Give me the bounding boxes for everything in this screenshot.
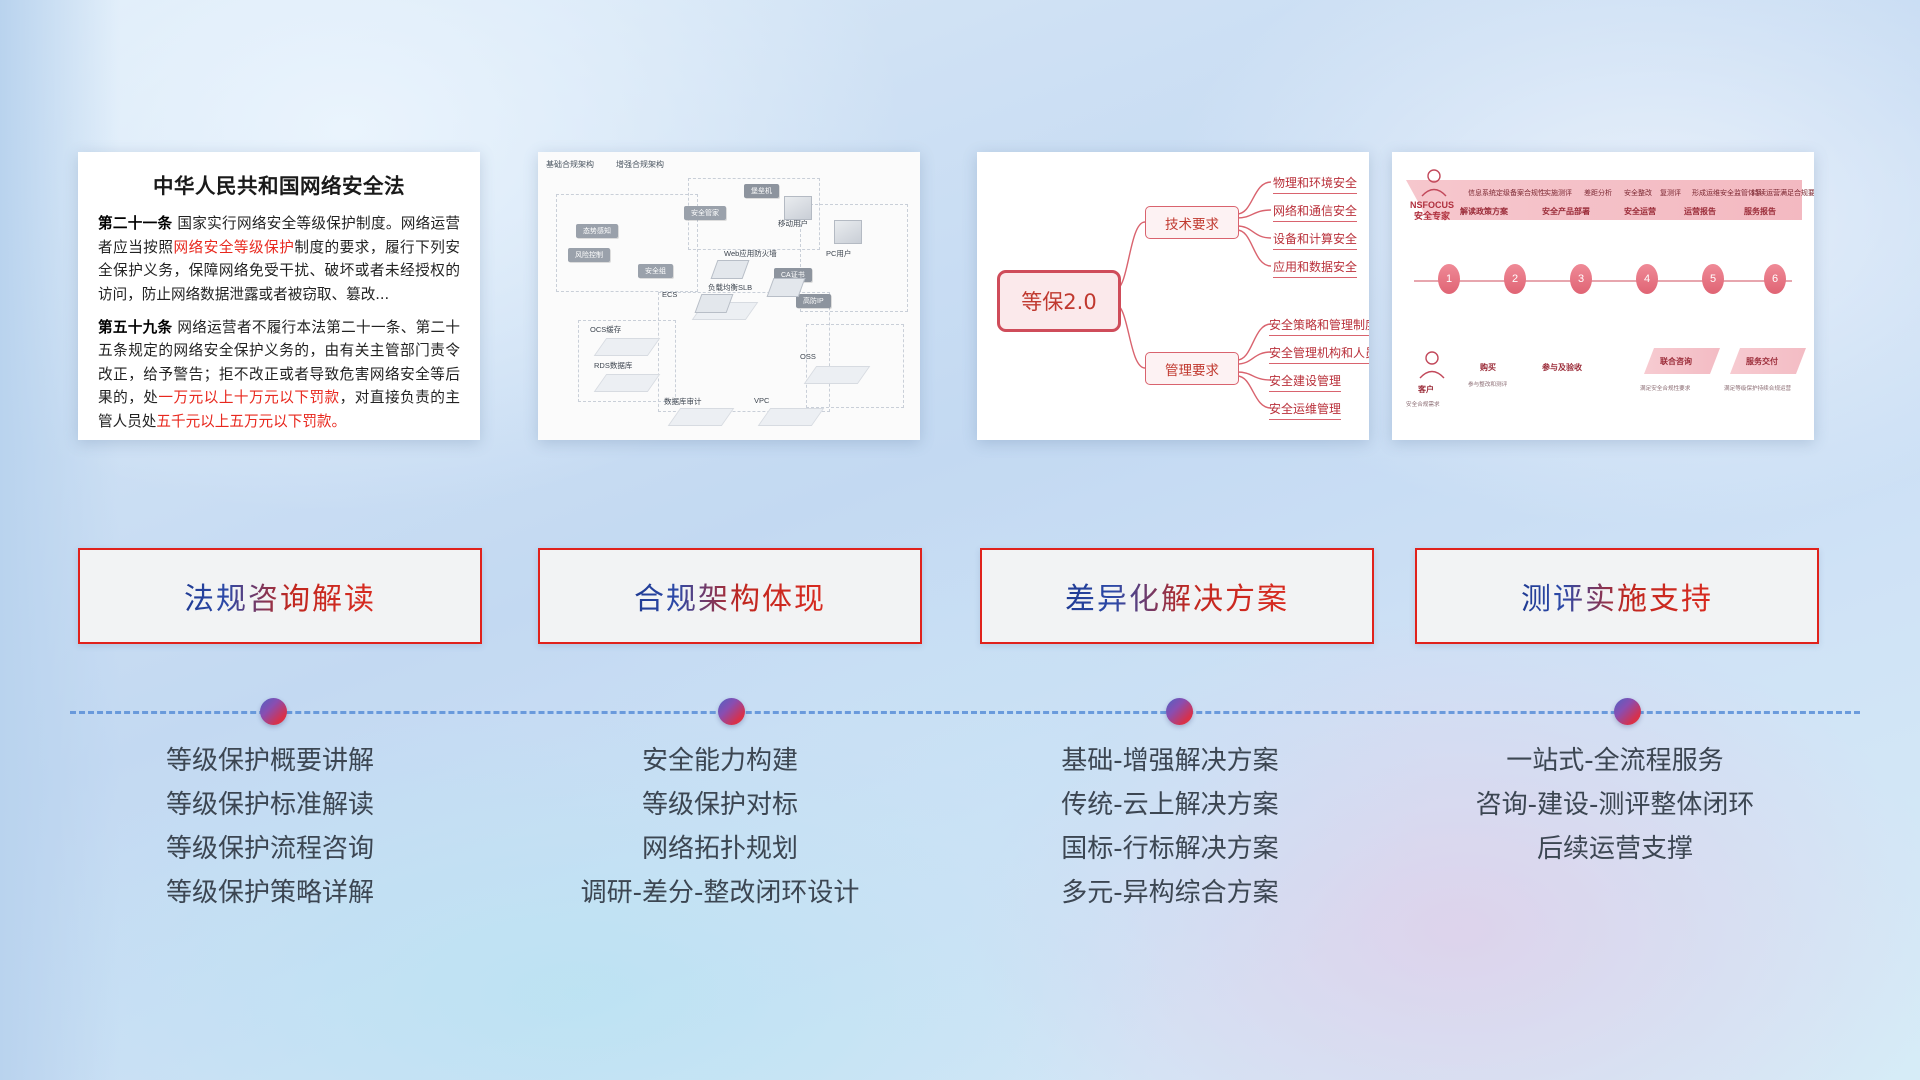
customer-action-1: 参与及验收 xyxy=(1542,362,1582,373)
heading-label-4: 测评实施支持 xyxy=(1521,574,1713,618)
list-item: 等级保护流程咨询 xyxy=(60,828,480,870)
flow-step-axis xyxy=(1414,280,1792,282)
timeline-dot-1[interactable] xyxy=(260,698,287,725)
arch-caption-basic: 基础合规架构 xyxy=(546,159,594,170)
mindmap-branch-technical: 技术要求 xyxy=(1145,206,1239,239)
flow-step-6: 6 xyxy=(1764,264,1786,294)
customer-sub-0: 安全合规需求 xyxy=(1406,400,1440,408)
list-item: 后续运营支撑 xyxy=(1400,828,1830,870)
mindmap-leaf-build: 安全建设管理 xyxy=(1269,372,1341,392)
mindmap-diagram: 等保2.0 技术要求 管理要求 物理和环境安全 网络和通信安全 设备和计算安全 … xyxy=(977,152,1369,440)
arch-node-risk: 风险控制 xyxy=(568,248,610,262)
arch-node-pc-user: PC用户 xyxy=(826,248,851,259)
outcome-sub-0: 满足安全合规性要求 xyxy=(1640,384,1690,392)
heading-box-regulation-consulting[interactable]: 法规咨询解读 xyxy=(78,548,482,644)
flow-step-4: 4 xyxy=(1636,264,1658,294)
outcome-sub-1: 满足等级保护持续合规运营 xyxy=(1724,384,1791,392)
mindmap-leaf-policy: 安全策略和管理制度 xyxy=(1269,316,1369,336)
law-article-21-label: 第二十一条 xyxy=(98,215,172,232)
list-item: 网络拓扑规划 xyxy=(500,828,940,870)
flow-header-item-3: 安全整改 xyxy=(1624,188,1652,198)
list-item: 等级保护标准解读 xyxy=(60,784,480,826)
card-cybersecurity-law: 中华人民共和国网络安全法 第二十一条 国家实行网络安全等级保护制度。网络运营者应… xyxy=(78,152,480,440)
architecture-diagram: 基础合规架构 增强合规架构 堡垒机 安全管家 态势感知 风险控制 安全组 CA证… xyxy=(538,152,920,440)
law-article-59-label: 第五十九条 xyxy=(98,319,172,336)
customer-label: 客户 xyxy=(1418,384,1434,395)
flow-header-item-1: 实施测评 xyxy=(1544,188,1572,198)
law-title: 中华人民共和国网络安全法 xyxy=(98,169,460,199)
timeline-dot-3[interactable] xyxy=(1166,698,1193,725)
list-item: 等级保护对标 xyxy=(500,784,940,826)
timeline-dot-2[interactable] xyxy=(718,698,745,725)
card-mindmap-dengbao: 等保2.0 技术要求 管理要求 物理和环境安全 网络和通信安全 设备和计算安全 … xyxy=(977,152,1369,440)
arch-caption-enhanced: 增强合规架构 xyxy=(616,159,664,170)
heading-box-differentiated-solution[interactable]: 差异化解决方案 xyxy=(980,548,1374,644)
service-list-row: 等级保护概要讲解 等级保护标准解读 等级保护流程咨询 等级保护策略详解 安全能力… xyxy=(0,740,1920,970)
arch-node-vpc: VPC xyxy=(754,396,769,405)
arch-node-ecs: ECS xyxy=(662,290,677,299)
outcome-tag-1: 服务交付 xyxy=(1746,356,1778,367)
mindmap-leaf-device: 设备和计算安全 xyxy=(1273,230,1357,250)
mindmap-root-node: 等保2.0 xyxy=(997,270,1121,332)
arch-node-dbaudit: 数据库审计 xyxy=(664,396,702,407)
flow-phase-3: 运营报告 xyxy=(1684,206,1716,217)
expert-icon xyxy=(1414,166,1454,200)
list-item: 等级保护策略详解 xyxy=(60,872,480,914)
customer-icon xyxy=(1412,348,1452,382)
mindmap-leaf-operate: 安全运维管理 xyxy=(1269,400,1341,420)
heading-box-compliance-architecture[interactable]: 合规架构体现 xyxy=(538,548,922,644)
outcome-tag-0: 联合咨询 xyxy=(1660,356,1692,367)
arch-node-situation: 态势感知 xyxy=(576,224,618,238)
law-article-21-highlight: 网络安全等级保护 xyxy=(174,239,295,256)
arch-node-waf: Web应用防火墙 xyxy=(724,248,777,259)
flow-step-2: 2 xyxy=(1504,264,1526,294)
arch-node-bastion: 堡垒机 xyxy=(744,184,779,198)
service-list-4: 一站式-全流程服务 咨询-建设-测评整体闭环 后续运营支撑 xyxy=(1400,740,1830,872)
flow-step-5: 5 xyxy=(1702,264,1724,294)
list-item: 传统-云上解决方案 xyxy=(960,784,1380,826)
brand-name: NSFOCUS xyxy=(1410,200,1454,210)
mindmap-branch-management: 管理要求 xyxy=(1145,352,1239,385)
arch-node-ocs: OCS缓存 xyxy=(590,324,621,335)
list-item: 调研-差分-整改闭环设计 xyxy=(500,872,940,914)
law-article-21: 第二十一条 国家实行网络安全等级保护制度。网络运营者应当按照网络安全等级保护制度… xyxy=(98,212,460,307)
list-item: 咨询-建设-测评整体闭环 xyxy=(1400,784,1830,826)
list-item: 多元-异构综合方案 xyxy=(960,872,1380,914)
service-flow-diagram: 信息系统定级备案合规性 实施测评 差距分析 安全整改 复测评 形成运维安全监管体… xyxy=(1392,152,1814,440)
arch-node-secgroup: 安全组 xyxy=(638,264,673,278)
flow-header-item-0: 信息系统定级备案合规性 xyxy=(1468,188,1545,198)
flow-phase-2: 安全运营 xyxy=(1624,206,1656,217)
flow-step-3: 3 xyxy=(1570,264,1592,294)
service-list-2: 安全能力构建 等级保护对标 网络拓扑规划 调研-差分-整改闭环设计 xyxy=(500,740,940,916)
timeline xyxy=(70,692,1860,732)
timeline-dashed-line xyxy=(70,711,1860,714)
list-item: 基础-增强解决方案 xyxy=(960,740,1380,782)
law-article-59-highlight-2: 五千元以上五万元以下罚款。 xyxy=(156,413,346,430)
arch-node-guardian: 安全管家 xyxy=(684,206,726,220)
timeline-dot-4[interactable] xyxy=(1614,698,1641,725)
mindmap-leaf-physical: 物理和环境安全 xyxy=(1273,174,1357,194)
law-article-59: 第五十九条 网络运营者不履行本法第二十一条、第二十五条规定的网络安全保护义务的，… xyxy=(98,316,460,434)
heading-row: 法规咨询解读 合规架构体现 差异化解决方案 测评实施支持 xyxy=(0,548,1920,644)
flow-step-1: 1 xyxy=(1438,264,1460,294)
page-root: 中华人民共和国网络安全法 第二十一条 国家实行网络安全等级保护制度。网络运营者应… xyxy=(0,0,1920,1080)
customer-action-0: 购买 xyxy=(1480,362,1496,373)
card-cloud-architecture: 基础合规架构 增强合规架构 堡垒机 安全管家 态势感知 风险控制 安全组 CA证… xyxy=(538,152,920,440)
flow-phase-4: 服务报告 xyxy=(1744,206,1776,217)
flow-header-item-4: 复测评 xyxy=(1660,188,1681,198)
heading-label-1: 法规咨询解读 xyxy=(184,574,376,618)
service-list-3: 基础-增强解决方案 传统-云上解决方案 国标-行标解决方案 多元-异构综合方案 xyxy=(960,740,1380,916)
list-item: 一站式-全流程服务 xyxy=(1400,740,1830,782)
customer-sub-1: 参与整改和测评 xyxy=(1468,380,1507,388)
flow-header-item-6: 持续运营满足合规要求 xyxy=(1752,188,1814,198)
mindmap-leaf-application: 应用和数据安全 xyxy=(1273,258,1357,278)
arch-node-oss: OSS xyxy=(800,352,816,361)
service-list-1: 等级保护概要讲解 等级保护标准解读 等级保护流程咨询 等级保护策略详解 xyxy=(60,740,480,916)
illustration-card-row: 中华人民共和国网络安全法 第二十一条 国家实行网络安全等级保护制度。网络运营者应… xyxy=(0,152,1920,442)
brand-sub: 安全专家 xyxy=(1414,211,1450,221)
list-item: 安全能力构建 xyxy=(500,740,940,782)
law-article-59-highlight-1: 一万元以上十万元以下罚款 xyxy=(158,389,339,406)
arch-node-rds: RDS数据库 xyxy=(594,360,632,371)
mindmap-leaf-org: 安全管理机构和人员 xyxy=(1269,344,1369,364)
flow-phase-1: 安全产品部署 xyxy=(1542,206,1590,217)
flow-header-item-2: 差距分析 xyxy=(1584,188,1612,198)
list-item: 国标-行标解决方案 xyxy=(960,828,1380,870)
heading-label-3: 差异化解决方案 xyxy=(1065,574,1289,618)
list-item: 等级保护概要讲解 xyxy=(60,740,480,782)
flow-phase-0: 解读政策方案 xyxy=(1460,206,1508,217)
arch-node-slb: 负载均衡SLB xyxy=(708,282,752,293)
card-service-flow: 信息系统定级备案合规性 实施测评 差距分析 安全整改 复测评 形成运维安全监管体… xyxy=(1392,152,1814,440)
heading-label-2: 合规架构体现 xyxy=(634,574,826,618)
arch-node-antiddos: 高防IP xyxy=(796,294,831,308)
mindmap-leaf-network: 网络和通信安全 xyxy=(1273,202,1357,222)
brand-label: NSFOCUS 安全专家 xyxy=(1410,200,1454,223)
heading-box-assessment-support[interactable]: 测评实施支持 xyxy=(1415,548,1819,644)
